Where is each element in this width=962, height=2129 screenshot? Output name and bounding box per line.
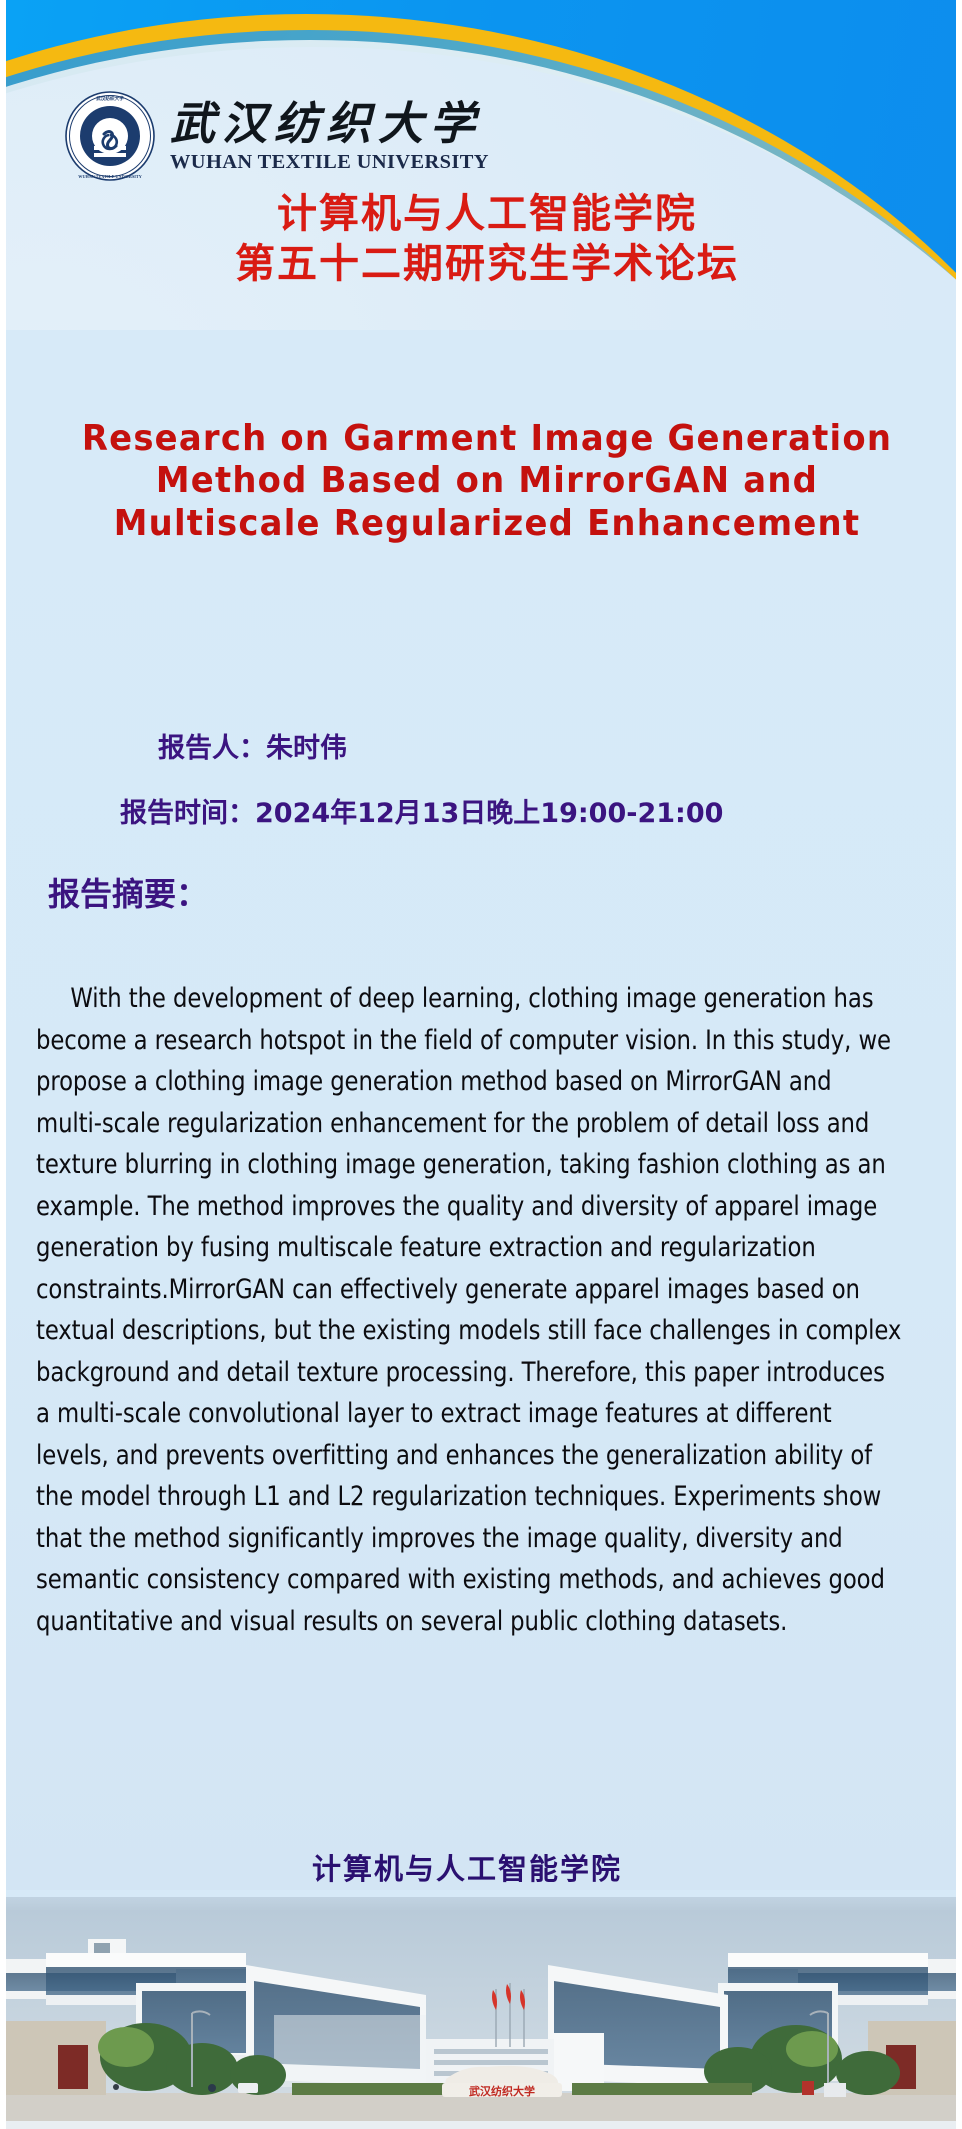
forum-heading: 计算机与人工智能学院 第五十二期研究生学术论坛 <box>6 190 962 289</box>
svg-text:武汉纺织大学: 武汉纺织大学 <box>469 2084 535 2098</box>
abstract-heading: 报告摘要： <box>48 878 208 910</box>
forum-heading-line1: 计算机与人工智能学院 <box>6 190 962 240</box>
footer-organization: 计算机与人工智能学院 <box>6 1846 962 1888</box>
abstract-body: With the development of deep learning, c… <box>36 978 903 1642</box>
svg-text:武汉纺织大学: 武汉纺织大学 <box>96 95 124 102</box>
bottom-strip <box>6 2121 962 2129</box>
time-line: 报告时间：2024年12月13日晚上19:00-21:00 <box>120 800 723 827</box>
university-name-en: WUHAN TEXTILE UNIVERSITY <box>170 151 489 174</box>
campus-photo: 武汉纺织大学 <box>6 1897 962 2129</box>
university-logo: 武汉纺织大学 WUHAN TEXTILE UNIVERSITY 武汉纺织大学 W… <box>64 90 483 182</box>
photo-top-fade <box>6 1897 962 1911</box>
talk-title-en: Research on Garment Image Generation Met… <box>82 418 892 545</box>
forum-heading-line2: 第五十二期研究生学术论坛 <box>6 240 962 290</box>
speaker-line: 报告人：朱时伟 <box>158 735 347 762</box>
university-crest-icon: 武汉纺织大学 WUHAN TEXTILE UNIVERSITY <box>64 90 156 182</box>
university-name-cn: 武汉纺织大学 <box>170 101 483 146</box>
svg-text:WUHAN TEXTILE UNIVERSITY: WUHAN TEXTILE UNIVERSITY <box>78 174 141 179</box>
university-wordmark: 武汉纺织大学 WUHAN TEXTILE UNIVERSITY <box>170 99 483 174</box>
poster-root: 武汉纺织大学 WUHAN TEXTILE UNIVERSITY 武汉纺织大学 W… <box>0 0 962 2129</box>
